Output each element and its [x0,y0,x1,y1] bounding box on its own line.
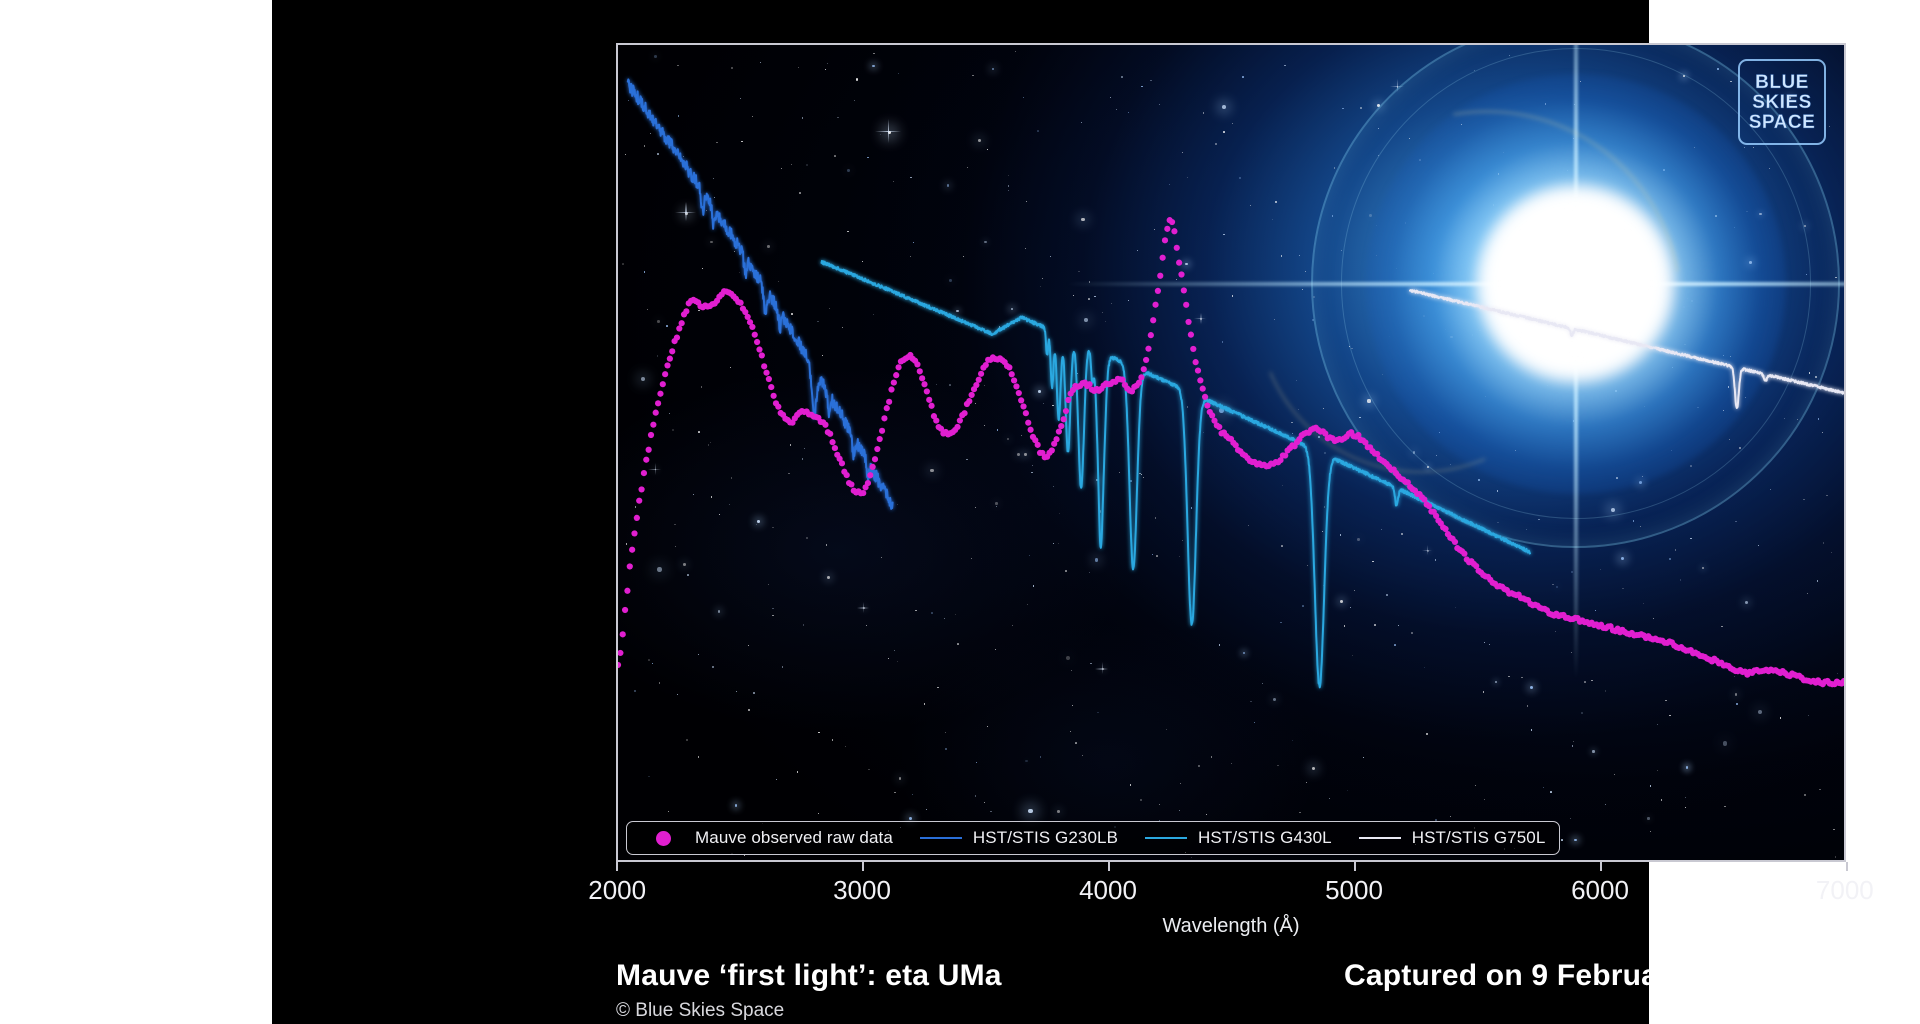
legend-marker-dot-icon [641,831,685,846]
caption-credit: © Blue Skies Space [616,1000,784,1022]
figure-content-panel: Mauve observed raw data HST/STIS G230LB … [272,0,1649,1024]
x-tick-label: 5000 [1325,875,1383,906]
series-g230lb [628,79,893,508]
x-tick [862,862,864,871]
x-tick-label: 7000 [1816,875,1874,906]
caption-date: Captured on 9 February 2026 [1344,959,1763,993]
legend-marker-line-icon-g230lb [919,837,963,839]
legend-item-g230lb[interactable]: HST/STIS G230LB [919,828,1118,848]
legend-marker-line-icon-g430l [1144,837,1188,839]
legend-label-g230lb: HST/STIS G230LB [973,828,1118,848]
legend-label-mauve: Mauve observed raw data [695,828,893,848]
plot-area: Mauve observed raw data HST/STIS G230LB … [616,43,1846,862]
caption-title: Mauve ‘first light’: eta UMa [616,959,1002,993]
x-tick-label: 6000 [1571,875,1629,906]
logo-line-3: SPACE [1749,113,1816,132]
legend-item-g430l[interactable]: HST/STIS G430L [1144,828,1332,848]
x-tick [1600,862,1602,871]
legend-item-g750l[interactable]: HST/STIS G750L [1358,828,1546,848]
x-tick-label: 4000 [1079,875,1137,906]
x-tick-label: 2000 [588,875,646,906]
legend-item-mauve[interactable]: Mauve observed raw data [641,828,893,848]
figure-page: Mauve observed raw data HST/STIS G230LB … [0,0,1920,1024]
x-tick [616,862,618,871]
series-mauve-observed [618,217,1844,687]
series-g430l [822,261,1531,687]
x-tick [1354,862,1356,871]
x-tick [1846,862,1848,871]
spectra-overlay [618,45,1844,860]
legend-marker-line-icon-g750l [1358,837,1402,839]
series-g750l [1410,290,1844,408]
logo-line-2: SKIES [1752,93,1812,112]
x-tick [1108,862,1110,871]
legend-label-g430l: HST/STIS G430L [1198,828,1332,848]
logo-line-1: BLUE [1755,73,1809,92]
legend-label-g750l: HST/STIS G750L [1412,828,1546,848]
blue-skies-space-logo: BLUE SKIES SPACE [1738,59,1826,145]
legend[interactable]: Mauve observed raw data HST/STIS G230LB … [626,821,1560,855]
x-tick-label: 3000 [833,875,891,906]
x-axis-title: Wavelength (Å) [616,915,1846,938]
